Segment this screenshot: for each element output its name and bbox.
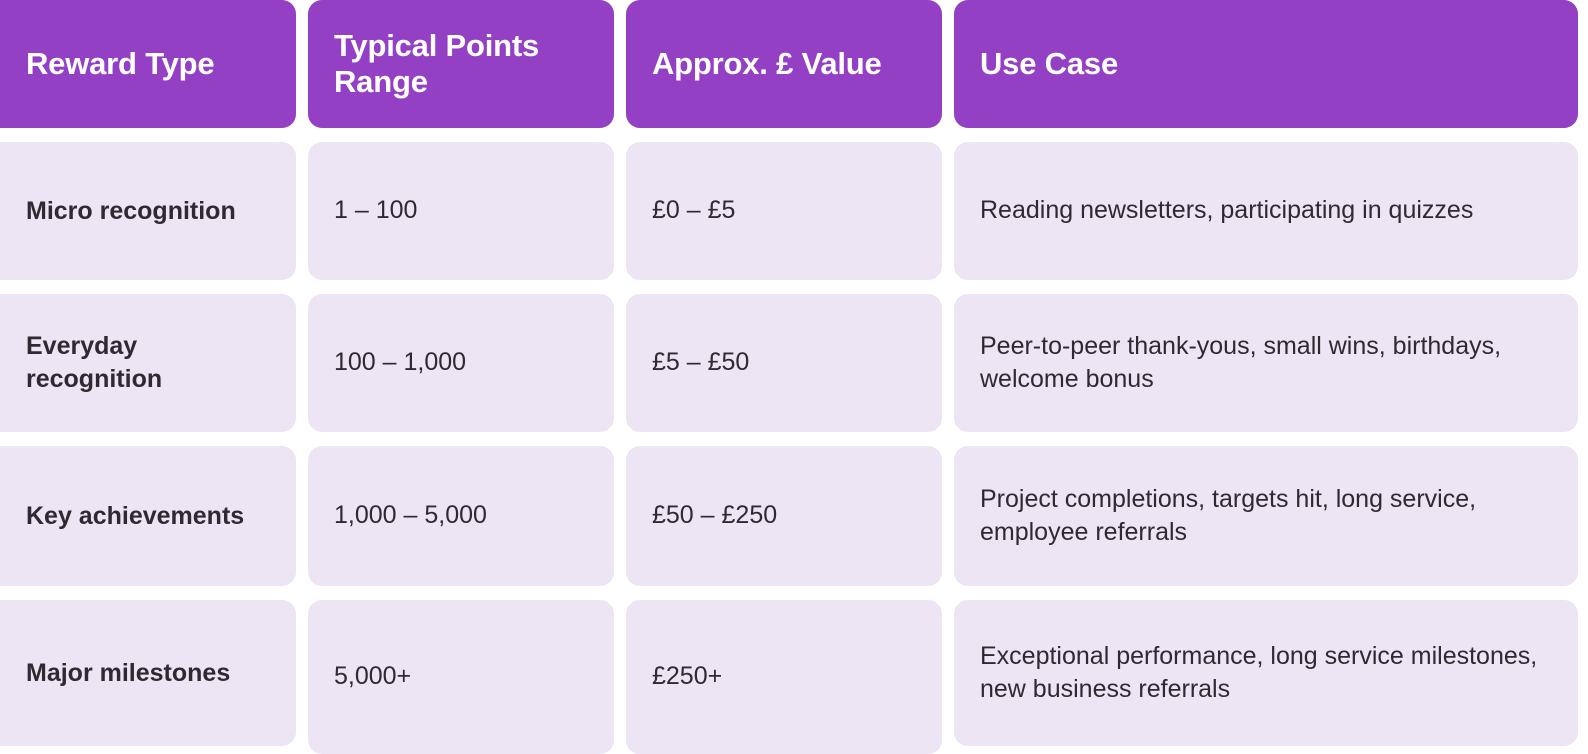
reward-tiers-table: Reward Type Typical Points Range Approx.… bbox=[0, 0, 1588, 714]
table-row: 1 – 100 bbox=[308, 142, 614, 280]
table-row: £0 – £5 bbox=[626, 142, 942, 280]
table-row: Key achievements bbox=[0, 446, 296, 586]
table-row: Major milestones bbox=[0, 600, 296, 746]
cell-points-range: 5,000+ bbox=[334, 660, 411, 693]
column-header-value: Approx. £ Value bbox=[626, 0, 942, 128]
cell-points-range: 100 – 1,000 bbox=[334, 346, 466, 379]
column-header-use-case: Use Case bbox=[954, 0, 1578, 128]
table-row: 100 – 1,000 bbox=[308, 294, 614, 432]
table-row: Project completions, targets hit, long s… bbox=[954, 446, 1578, 586]
cell-reward-type: Key achievements bbox=[26, 500, 244, 533]
table-row: Reading newsletters, participating in qu… bbox=[954, 142, 1578, 280]
cell-points-range: 1 – 100 bbox=[334, 194, 417, 227]
cell-use-case: Peer-to-peer thank-yous, small wins, bir… bbox=[980, 330, 1552, 397]
cell-value: £250+ bbox=[652, 660, 722, 693]
table-row: 5,000+ bbox=[308, 600, 614, 754]
table-row: £5 – £50 bbox=[626, 294, 942, 432]
cell-reward-type: Major milestones bbox=[26, 657, 230, 690]
table-row: 1,000 – 5,000 bbox=[308, 446, 614, 586]
cell-reward-type: Everyday recognition bbox=[26, 330, 270, 396]
table-row: £250+ bbox=[626, 600, 942, 754]
cell-use-case: Reading newsletters, participating in qu… bbox=[980, 194, 1473, 227]
column-header-label: Typical Points Range bbox=[334, 28, 588, 101]
column-header-reward-type: Reward Type bbox=[0, 0, 296, 128]
cell-value: £50 – £250 bbox=[652, 499, 777, 532]
cell-points-range: 1,000 – 5,000 bbox=[334, 499, 487, 532]
column-header-label: Use Case bbox=[980, 46, 1118, 82]
table-row: Everyday recognition bbox=[0, 294, 296, 432]
table-row: Peer-to-peer thank-yous, small wins, bir… bbox=[954, 294, 1578, 432]
table-row: Exceptional performance, long service mi… bbox=[954, 600, 1578, 746]
table-row: £50 – £250 bbox=[626, 446, 942, 586]
cell-reward-type: Micro recognition bbox=[26, 195, 236, 228]
column-header-label: Reward Type bbox=[26, 46, 214, 82]
column-header-label: Approx. £ Value bbox=[652, 46, 882, 82]
table-grid: Reward Type Typical Points Range Approx.… bbox=[0, 0, 1588, 746]
table-row: Micro recognition bbox=[0, 142, 296, 280]
cell-use-case: Project completions, targets hit, long s… bbox=[980, 483, 1552, 550]
cell-value: £5 – £50 bbox=[652, 346, 749, 379]
column-header-points-range: Typical Points Range bbox=[308, 0, 614, 128]
cell-use-case: Exceptional performance, long service mi… bbox=[980, 640, 1552, 707]
cell-value: £0 – £5 bbox=[652, 194, 735, 227]
